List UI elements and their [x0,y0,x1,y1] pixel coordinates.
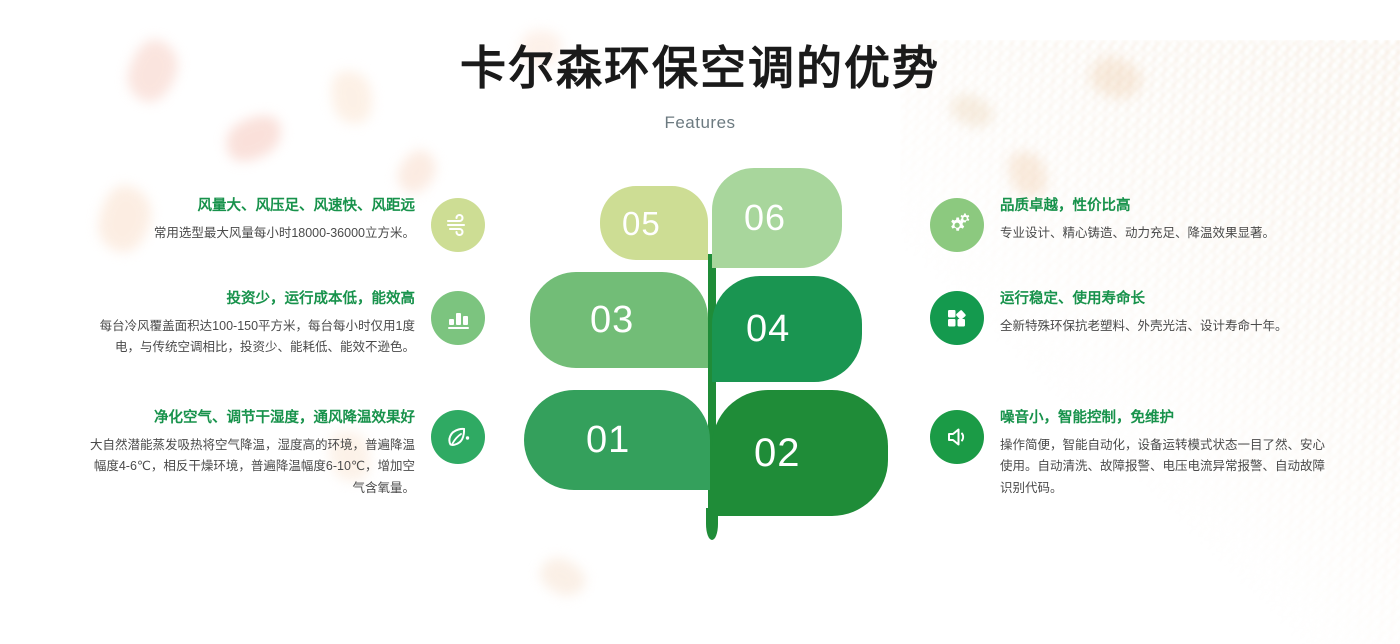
feature-title: 运行稳定、使用寿命长 [1000,289,1330,311]
eco-leaf-icon [431,410,485,464]
feature-title: 品质卓越，性价比高 [1000,196,1330,218]
header: 卡尔森环保空调的优势 Features [0,0,1400,133]
leaf-badge-06[interactable]: 06 [712,168,842,268]
feature-item-05[interactable]: 风量大、风压足、风速快、风距远 常用选型最大风量每小时18000-36000立方… [85,196,485,252]
petal-shape [1002,145,1054,203]
wind-icon [431,198,485,252]
feature-text-block: 品质卓越，性价比高 专业设计、精心铸造、动力充足、降温效果显著。 [1000,196,1330,244]
leaf-badge-01[interactable]: 01 [524,390,710,490]
feature-description: 常用选型最大风量每小时18000-36000立方米。 [85,223,415,245]
feature-title: 净化空气、调节干湿度，通风降温效果好 [85,408,415,430]
leaf-cluster-diagram: 05 06 03 04 01 02 [512,168,932,568]
leaf-number: 06 [744,200,786,236]
feature-description: 专业设计、精心铸造、动力充足、降温效果显著。 [1000,223,1330,245]
leaf-number: 03 [590,301,634,339]
page-title: 卡尔森环保空调的优势 [0,42,1400,95]
feature-item-02[interactable]: 噪音小，智能控制，免维护 操作简便，智能自动化，设备运转模式状态一目了然、安心使… [930,408,1330,499]
feature-text-block: 投资少，运行成本低，能效高 每台冷风覆盖面积达100-150平方米，每台每小时仅… [85,289,415,359]
feature-text-block: 运行稳定、使用寿命长 全新特殊环保抗老塑料、外壳光洁、设计寿命十年。 [1000,289,1330,337]
leaf-badge-05[interactable]: 05 [600,186,708,260]
page-subtitle: Features [0,113,1400,133]
leaf-number: 04 [746,310,790,348]
feature-title: 风量大、风压足、风速快、风距远 [85,196,415,218]
leaf-badge-04[interactable]: 04 [712,276,862,382]
feature-title: 噪音小，智能控制，免维护 [1000,408,1330,430]
leaf-number: 01 [586,421,630,459]
blocks-icon [930,291,984,345]
feature-item-06[interactable]: 品质卓越，性价比高 专业设计、精心铸造、动力充足、降温效果显著。 [930,196,1330,252]
feature-item-03[interactable]: 投资少，运行成本低，能效高 每台冷风覆盖面积达100-150平方米，每台每小时仅… [85,289,485,359]
feature-text-block: 净化空气、调节干湿度，通风降温效果好 大自然潜能蒸发吸热将空气降温，湿度高的环境… [85,408,415,499]
bar-chart-icon [431,291,485,345]
feature-item-04[interactable]: 运行稳定、使用寿命长 全新特殊环保抗老塑料、外壳光洁、设计寿命十年。 [930,289,1330,345]
leaf-badge-03[interactable]: 03 [530,272,708,368]
gears-icon [930,198,984,252]
infographic-page: 卡尔森环保空调的优势 Features 风量大、风压足、风速快、风距远 常用选型… [0,0,1400,644]
feature-description: 全新特殊环保抗老塑料、外壳光洁、设计寿命十年。 [1000,316,1330,338]
feature-description: 每台冷风覆盖面积达100-150平方米，每台每小时仅用1度电，与传统空调相比，投… [85,316,415,359]
feature-text-block: 风量大、风压足、风速快、风距远 常用选型最大风量每小时18000-36000立方… [85,196,415,244]
petal-shape [391,144,442,199]
feature-item-01[interactable]: 净化空气、调节干湿度，通风降温效果好 大自然潜能蒸发吸热将空气降温，湿度高的环境… [85,408,485,499]
feature-description: 操作简便，智能自动化，设备运转模式状态一目了然、安心使用。自动清洗、故障报警、电… [1000,435,1330,500]
leaf-badge-02[interactable]: 02 [712,390,888,516]
feature-title: 投资少，运行成本低，能效高 [85,289,415,311]
speaker-icon [930,410,984,464]
feature-description: 大自然潜能蒸发吸热将空气降温，湿度高的环境，普遍降温幅度4-6℃，相反干燥环境，… [85,435,415,500]
feature-text-block: 噪音小，智能控制，免维护 操作简便，智能自动化，设备运转模式状态一目了然、安心使… [1000,408,1330,499]
leaf-number: 02 [754,433,801,473]
leaf-number: 05 [622,207,661,240]
